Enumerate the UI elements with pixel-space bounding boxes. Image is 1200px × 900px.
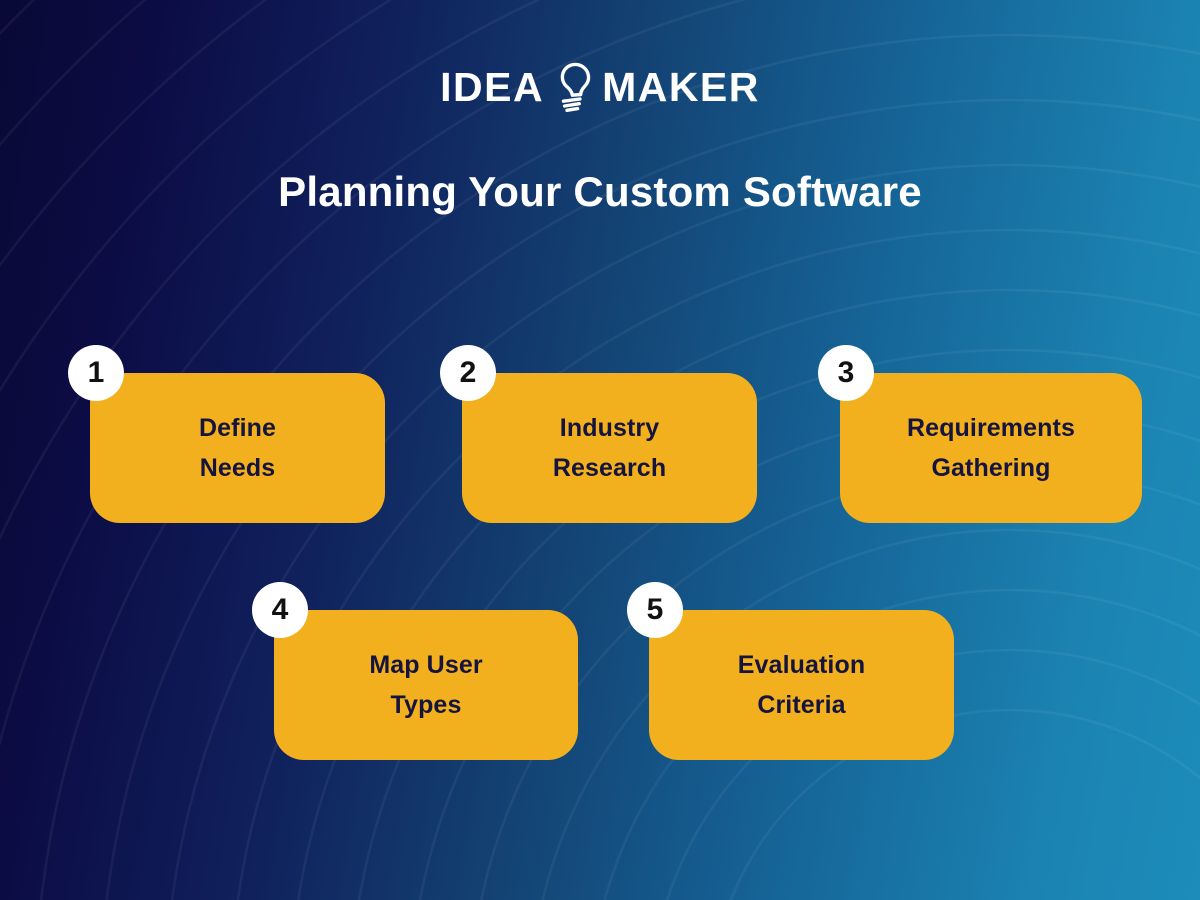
step-card-4-label: Map User Types — [369, 645, 482, 725]
step-badge-4-number: 4 — [272, 595, 289, 625]
step-card-1-label-line2: Needs — [199, 448, 276, 488]
step-card-1-label: Define Needs — [199, 408, 276, 488]
step-card-3-label-line1: Requirements — [907, 408, 1075, 448]
step-card-5-label: Evaluation Criteria — [738, 645, 865, 725]
step-badge-2-number: 2 — [460, 358, 477, 388]
step-card-5-body[interactable]: Evaluation Criteria — [649, 610, 954, 760]
step-card-2-label-line2: Research — [553, 448, 666, 488]
logo-word-maker: MAKER — [602, 67, 760, 108]
step-card-3-label: Requirements Gathering — [907, 408, 1075, 488]
infographic-canvas: IDEA MAKER Planning Your Custom Software… — [0, 0, 1200, 900]
step-card-2-body[interactable]: Industry Research — [462, 373, 757, 523]
step-card-3-body[interactable]: Requirements Gathering — [840, 373, 1142, 523]
step-card-1-body[interactable]: Define Needs — [90, 373, 385, 523]
step-card-2-label: Industry Research — [553, 408, 666, 488]
step-badge-4: 4 — [252, 582, 308, 638]
step-card-4-label-line1: Map User — [369, 645, 482, 685]
step-badge-3-number: 3 — [838, 358, 855, 388]
step-card-3-label-line2: Gathering — [907, 448, 1075, 488]
page-title: Planning Your Custom Software — [0, 168, 1200, 216]
step-card-4-label-line2: Types — [369, 685, 482, 725]
step-badge-1: 1 — [68, 345, 124, 401]
step-card-5-label-line2: Criteria — [738, 685, 865, 725]
step-badge-1-number: 1 — [88, 358, 105, 388]
step-card-2-label-line1: Industry — [553, 408, 666, 448]
step-card-4-body[interactable]: Map User Types — [274, 610, 578, 760]
step-badge-2: 2 — [440, 345, 496, 401]
step-badge-3: 3 — [818, 345, 874, 401]
step-card-1-label-line1: Define — [199, 408, 276, 448]
logo-word-idea: IDEA — [440, 67, 544, 108]
step-badge-5: 5 — [627, 582, 683, 638]
brand-logo: IDEA MAKER — [0, 56, 1200, 118]
lightbulb-icon — [550, 58, 596, 116]
step-card-5-label-line1: Evaluation — [738, 645, 865, 685]
step-badge-5-number: 5 — [647, 595, 664, 625]
